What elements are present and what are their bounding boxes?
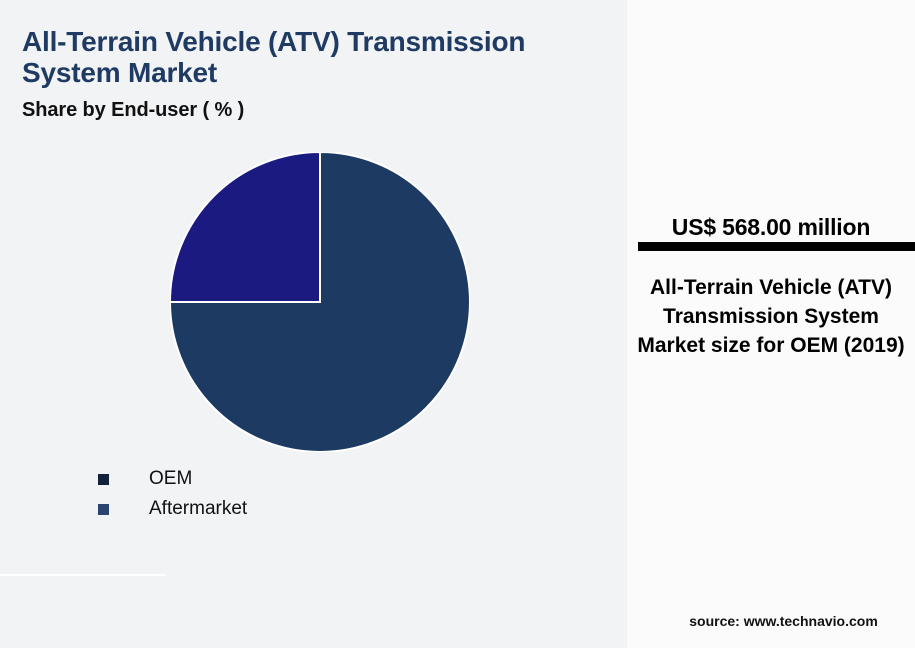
legend-label-oem: OEM (149, 468, 192, 490)
legend-label-aftermarket: Aftermarket (149, 498, 247, 520)
chart-legend: OEM Aftermarket (98, 464, 247, 524)
source-note: source: www.technavio.com (627, 613, 915, 629)
chart-panel: All-Terrain Vehicle (ATV) Transmission S… (0, 0, 627, 648)
pie-chart (170, 152, 470, 452)
legend-swatch-aftermarket (98, 504, 109, 515)
legend-item-oem[interactable]: OEM (98, 464, 247, 494)
page-title: All-Terrain Vehicle (ATV) Transmission S… (22, 26, 602, 89)
kpi-value: US$ 568.00 million (627, 214, 915, 241)
kpi-underline (638, 242, 915, 251)
pie-slice-group (170, 152, 470, 452)
pie-chart-svg (170, 152, 470, 452)
pie-slice-aftermarket[interactable] (170, 152, 320, 302)
legend-item-aftermarket[interactable]: Aftermarket (98, 494, 247, 524)
kpi-caption: All-Terrain Vehicle (ATV) Transmission S… (635, 274, 907, 360)
legend-swatch-oem (98, 474, 109, 485)
chart-subtitle: Share by End-user ( % ) (22, 99, 244, 122)
kpi-panel: US$ 568.00 million All-Terrain Vehicle (… (627, 0, 915, 648)
infographic-root: All-Terrain Vehicle (ATV) Transmission S… (0, 0, 915, 648)
footer-divider (0, 574, 166, 576)
